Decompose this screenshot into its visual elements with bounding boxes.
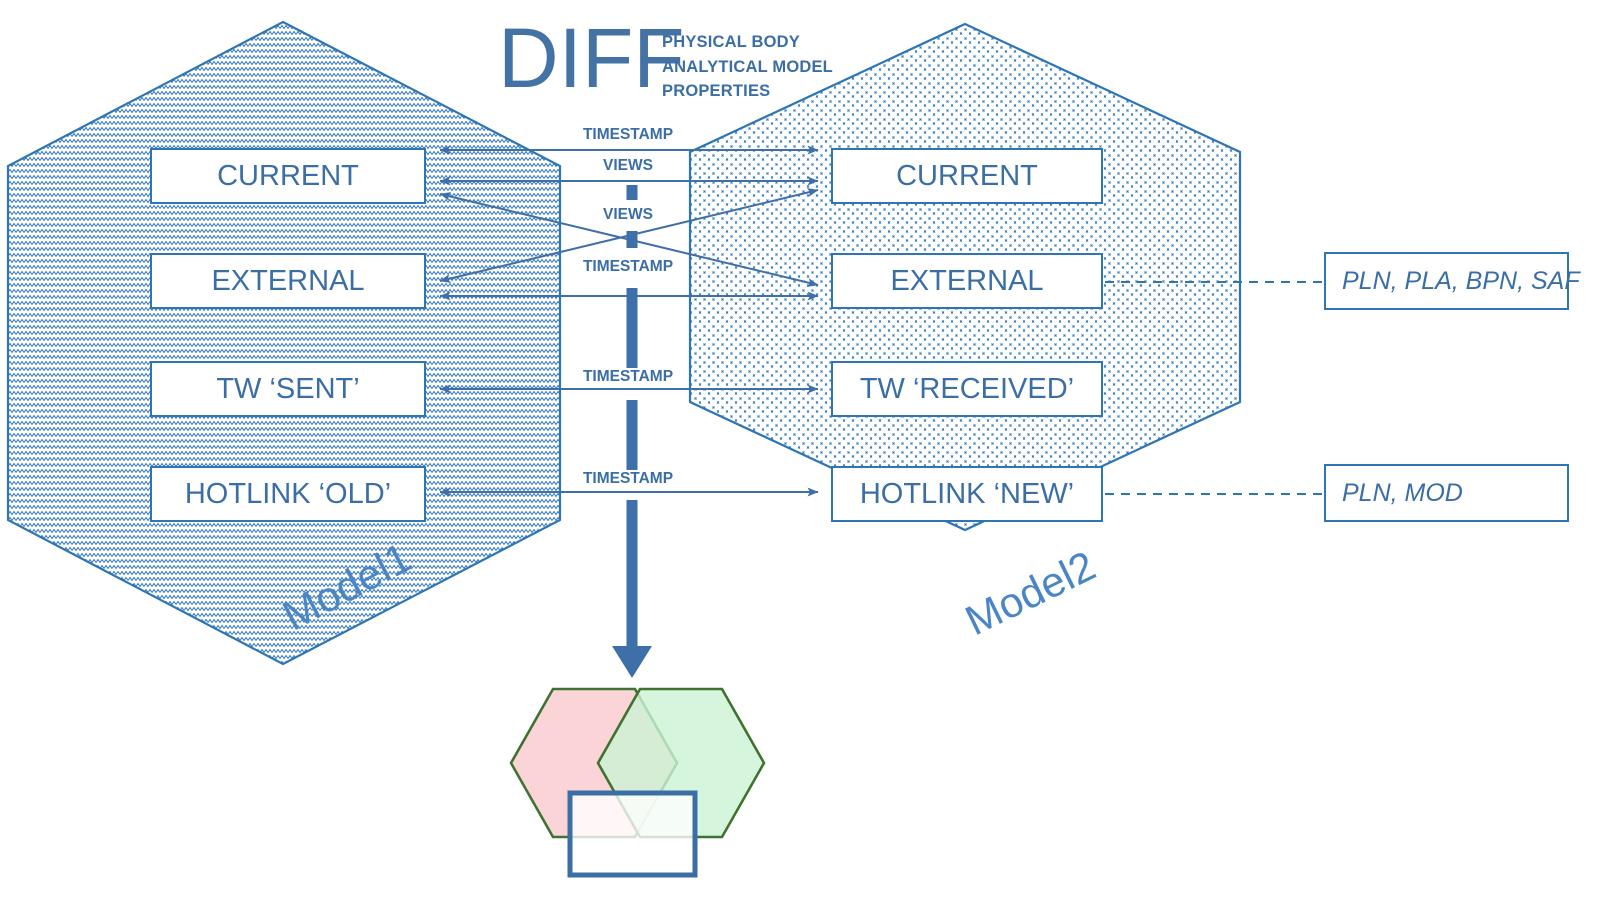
diff-flow-arrowhead: [612, 646, 652, 678]
model2-box-tw-received[interactable]: TW ‘RECEIVED’: [831, 361, 1103, 417]
conn-5-label: TIMESTAMP: [583, 368, 673, 386]
model1-box-external[interactable]: EXTERNAL: [150, 253, 426, 309]
conn-6-label: TIMESTAMP: [583, 470, 673, 488]
subtitle-line-3: PROPERTIES: [662, 79, 833, 104]
page-title: DIFF: [498, 16, 685, 100]
subtitle-line-1: PHYSICAL BODY: [662, 30, 833, 55]
model1-hexagon: [8, 22, 560, 664]
annotation-box-hotlink[interactable]: PLN, MOD: [1324, 464, 1569, 522]
page-subtitle: PHYSICAL BODY ANALYTICAL MODEL PROPERTIE…: [662, 30, 833, 104]
model2-box-external[interactable]: EXTERNAL: [831, 253, 1103, 309]
model1-box-current[interactable]: CURRENT: [150, 148, 426, 204]
result-rectangle: [570, 793, 695, 875]
annotation-box-external[interactable]: PLN, PLA, BPN, SAF: [1324, 252, 1569, 310]
subtitle-line-2: ANALYTICAL MODEL: [662, 55, 833, 80]
model2-box-current[interactable]: CURRENT: [831, 148, 1103, 204]
model2-box-hotlink-new[interactable]: HOTLINK ‘NEW’: [831, 466, 1103, 522]
diagram-canvas: DIFF PHYSICAL BODY ANALYTICAL MODEL PROP…: [0, 0, 1614, 909]
model1-box-hotlink-old[interactable]: HOTLINK ‘OLD’: [150, 466, 426, 522]
conn-3-label: VIEWS: [603, 206, 653, 224]
conn-2-label: VIEWS: [603, 157, 653, 175]
model1-box-tw-sent[interactable]: TW ‘SENT’: [150, 361, 426, 417]
conn-4-label: TIMESTAMP: [583, 258, 673, 276]
diagram-svg: [0, 0, 1614, 909]
conn-1-label: TIMESTAMP: [583, 126, 673, 144]
